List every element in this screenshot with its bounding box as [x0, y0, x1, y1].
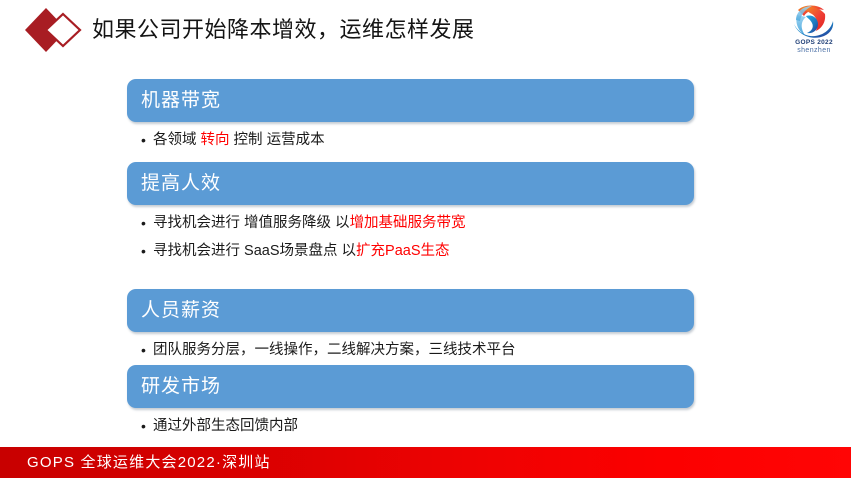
slide-footer: GOPS 全球运维大会2022·深圳站 [0, 447, 851, 478]
block-bullet-list: 通过外部生态回馈内部 [127, 408, 694, 440]
bullet-text-highlight: 增加基础服务带宽 [350, 215, 466, 231]
block-bullet-list: 寻找机会进行 增值服务降级 以增加基础服务带宽 寻找机会进行 SaaS场景盘点 … [127, 205, 694, 265]
slide-content: 机器带宽 各领域 转向 控制 运营成本 提高人效 寻找机会进行 增值服务降级 以… [0, 0, 851, 447]
block-heading: 研发市场 [127, 365, 694, 408]
bullet-item: 寻找机会进行 增值服务降级 以增加基础服务带宽 [127, 209, 694, 237]
content-block: 研发市场 通过外部生态回馈内部 [127, 365, 694, 440]
bullet-item: 通过外部生态回馈内部 [127, 412, 694, 440]
content-block: 提高人效 寻找机会进行 增值服务降级 以增加基础服务带宽 寻找机会进行 SaaS… [127, 162, 694, 265]
bullet-text-segment: 各领域 [153, 132, 201, 148]
bullet-item: 各领域 转向 控制 运营成本 [127, 126, 694, 154]
bullet-text-segment: 团队服务分层，一线操作，二线解决方案，三线技术平台 [153, 342, 516, 358]
content-block: 机器带宽 各领域 转向 控制 运营成本 [127, 79, 694, 154]
bullet-text-highlight: 扩充PaaS生态 [356, 243, 449, 259]
presentation-slide: 如果公司开始降本增效，运维怎样发展 [0, 0, 851, 478]
block-bullet-list: 各领域 转向 控制 运营成本 [127, 122, 694, 154]
block-bullet-list: 团队服务分层，一线操作，二线解决方案，三线技术平台 [127, 332, 694, 364]
block-heading: 提高人效 [127, 162, 694, 205]
bullet-text-highlight: 转向 [201, 132, 230, 148]
content-block: 人员薪资 团队服务分层，一线操作，二线解决方案，三线技术平台 [127, 289, 694, 364]
bullet-item: 寻找机会进行 SaaS场景盘点 以扩充PaaS生态 [127, 237, 694, 265]
bullet-text-segment: 寻找机会进行 增值服务降级 以 [153, 215, 350, 231]
block-heading: 机器带宽 [127, 79, 694, 122]
footer-conference-title: GOPS 全球运维大会2022·深圳站 [27, 447, 271, 478]
bullet-item: 团队服务分层，一线操作，二线解决方案，三线技术平台 [127, 336, 694, 364]
bullet-text-segment: 通过外部生态回馈内部 [153, 418, 298, 434]
bullet-text-segment: 寻找机会进行 SaaS场景盘点 以 [153, 243, 356, 259]
block-heading: 人员薪资 [127, 289, 694, 332]
bullet-text-segment: 控制 运营成本 [230, 132, 325, 148]
